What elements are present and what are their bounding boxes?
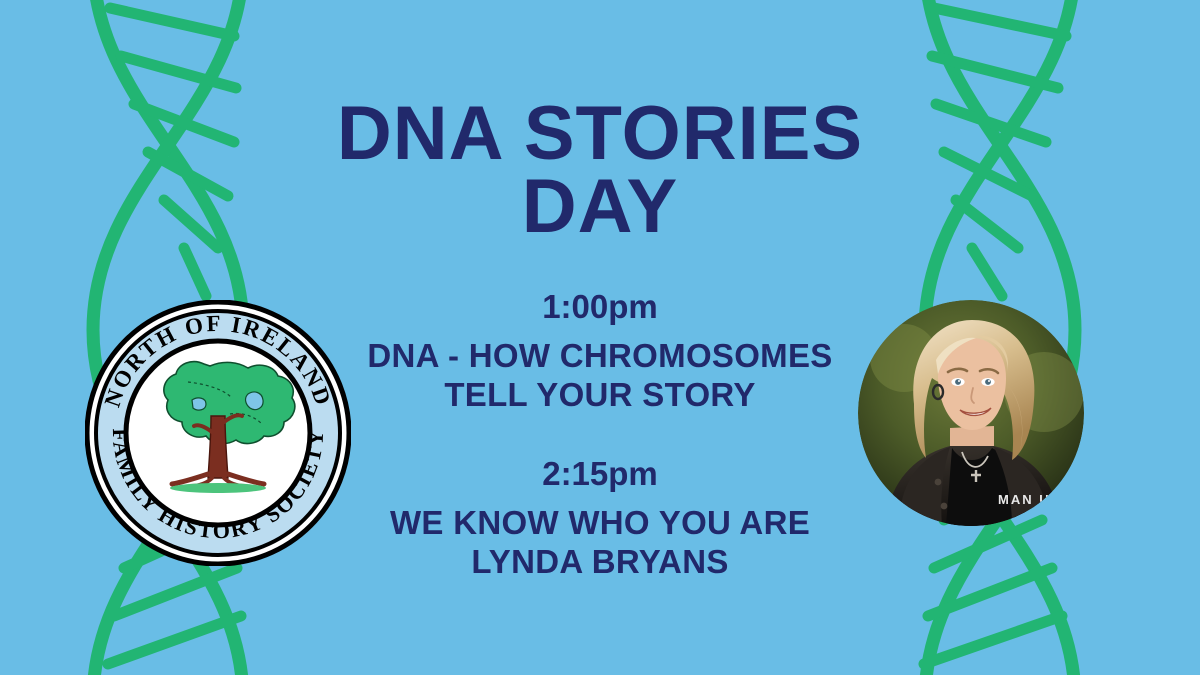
session-speaker: LYNDA BRYANS [390, 543, 810, 582]
session-time: 1:00pm [367, 288, 832, 326]
society-logo: NORTH OF IRELAND FAMILY HISTORY SOCIETY [85, 300, 351, 566]
session-title-line-1: WE KNOW WHO YOU ARE [390, 504, 810, 543]
session-title-line-1: DNA - HOW CHROMOSOMES [367, 337, 832, 376]
session-item: 2:15pm WE KNOW WHO YOU ARE LYNDA BRYANS [390, 455, 810, 582]
poster-content: DNA STORIES DAY 1:00pm DNA - HOW CHROMOS… [300, 0, 900, 675]
session-time: 2:15pm [390, 455, 810, 493]
session-title: DNA - HOW CHROMOSOMES TELL YOUR STORY [367, 337, 832, 415]
event-poster: DNA STORIES DAY 1:00pm DNA - HOW CHROMOS… [0, 0, 1200, 675]
session-title: WE KNOW WHO YOU ARE [390, 504, 810, 543]
speaker-portrait: MAN U [858, 300, 1084, 526]
session-item: 1:00pm DNA - HOW CHROMOSOMES TELL YOUR S… [367, 288, 832, 415]
page-title: DNA STORIES DAY [337, 98, 863, 244]
title-line-2: DAY [337, 171, 863, 244]
session-title-line-2: TELL YOUR STORY [367, 376, 832, 415]
